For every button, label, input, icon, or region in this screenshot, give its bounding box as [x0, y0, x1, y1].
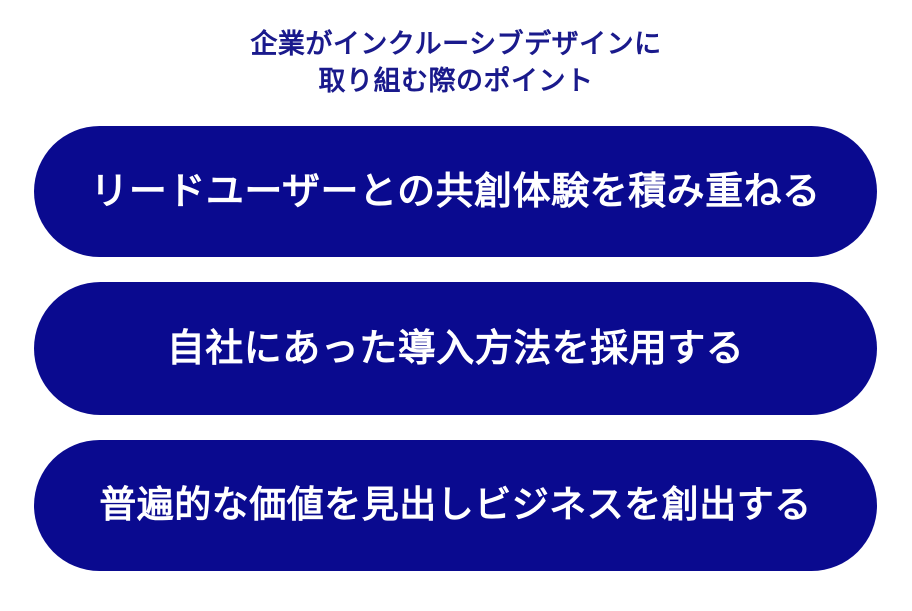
infographic-root: 企業がインクルーシブデザインに 取り組む際のポイント リードユーザーとの共創体験… — [0, 0, 912, 611]
point-card-1-label: リードユーザーとの共創体験を積み重ねる — [90, 171, 820, 213]
page-title-line-1: 企業がインクルーシブデザインに — [0, 26, 912, 63]
page-title-line-2: 取り組む際のポイント — [0, 63, 912, 100]
point-card-3-label: 普遍的な価値を見出しビジネスを創出する — [99, 485, 812, 526]
point-card-3: 普遍的な価値を見出しビジネスを創出する — [34, 440, 877, 571]
point-card-2-label: 自社にあった導入方法を採用する — [167, 328, 745, 370]
point-card-1: リードユーザーとの共創体験を積み重ねる — [34, 126, 877, 257]
point-card-2: 自社にあった導入方法を採用する — [34, 282, 877, 415]
page-title: 企業がインクルーシブデザインに 取り組む際のポイント — [0, 26, 912, 100]
